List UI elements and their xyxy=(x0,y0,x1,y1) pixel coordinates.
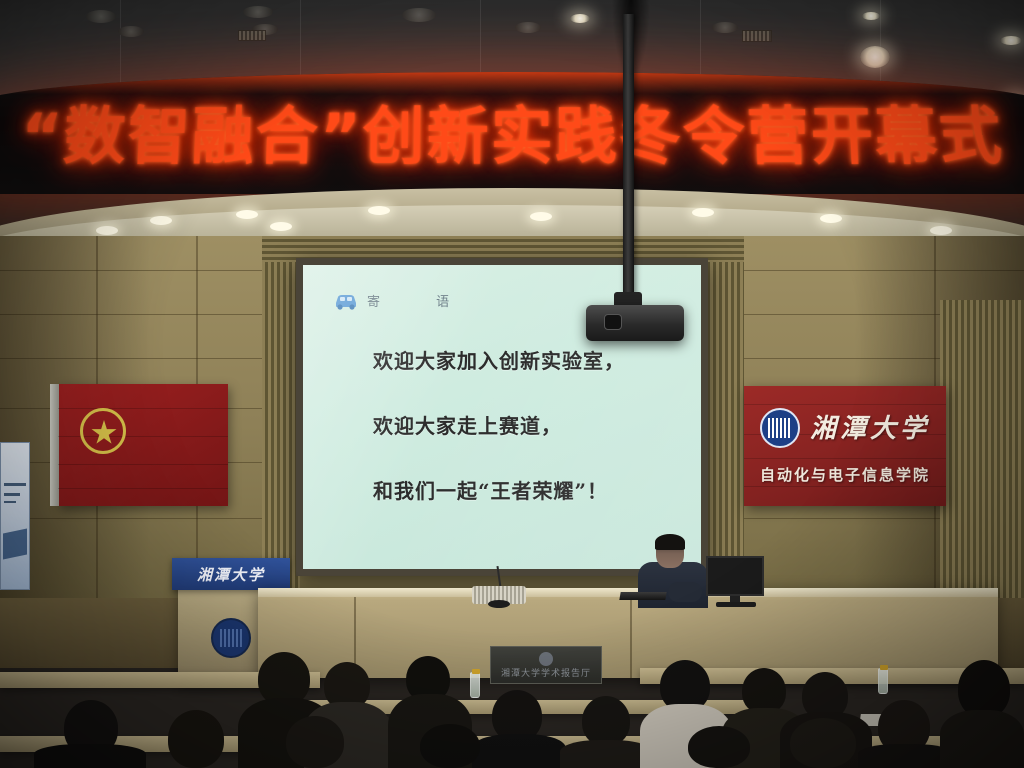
desk-monitor xyxy=(706,556,764,596)
audience-shoulders xyxy=(472,734,566,768)
projector-pole xyxy=(623,14,634,314)
ceiling-vent xyxy=(238,30,266,41)
youth-league-flag xyxy=(58,384,228,506)
ribbed-column-right xyxy=(704,236,744,596)
bottle-cap xyxy=(472,669,480,674)
speaker-hair xyxy=(655,534,685,550)
downlight xyxy=(820,214,842,223)
slide-line-2: 欢迎大家走上赛道， xyxy=(373,410,681,439)
downlight xyxy=(96,226,118,235)
star-icon xyxy=(91,420,117,446)
water-bottle xyxy=(878,668,888,694)
downlight xyxy=(530,212,552,221)
audience-head xyxy=(168,710,224,768)
university-logo xyxy=(760,408,800,448)
slide-header: 寄 语 xyxy=(333,291,475,310)
audience-shoulders xyxy=(560,740,652,768)
monitor-base xyxy=(716,602,756,607)
university-banner: 湘潭大学 自动化与电子信息学院 xyxy=(744,386,946,506)
hall-plaque: 湘潭大学学术报告厅 xyxy=(490,646,602,684)
projector-lens xyxy=(604,314,622,330)
ribbed-panel-far-right xyxy=(940,300,1024,600)
audience-shoulders xyxy=(940,710,1024,768)
podium-emblem xyxy=(211,618,251,658)
ceiling-light xyxy=(862,12,880,20)
downlight xyxy=(150,216,172,225)
microphone-base xyxy=(488,600,510,608)
speaker-arm xyxy=(668,582,702,602)
projector xyxy=(586,305,684,341)
flag-emblem xyxy=(80,408,126,454)
downlight xyxy=(692,208,714,217)
auditorium-scene: “数智融合”创新实践冬令营开幕式 xyxy=(0,0,1024,768)
ribbed-column-left xyxy=(262,236,300,596)
water-bottle xyxy=(470,672,480,698)
downlight xyxy=(236,210,258,219)
audience-shoulders xyxy=(34,744,146,768)
university-banner-name: 湘潭大学 xyxy=(810,408,930,445)
led-banner-text: “数智融合”创新实践冬令营开幕式 xyxy=(0,86,1024,176)
audience-head xyxy=(790,718,856,768)
university-logo-inner xyxy=(768,418,792,438)
poster-graphic xyxy=(3,528,27,559)
downlight xyxy=(368,206,390,215)
laptop xyxy=(619,592,666,600)
podium-nameplate: 湘潭大学 xyxy=(172,558,290,590)
audience-head xyxy=(582,696,630,746)
slide-body: 欢迎大家加入创新实验室， 欢迎大家走上赛道， 和我们一起“王者荣耀”！ xyxy=(373,345,681,540)
audience-head xyxy=(688,726,750,768)
car-icon xyxy=(333,292,359,310)
downlight xyxy=(270,222,292,231)
university-banner-college: 自动化与电子信息学院 xyxy=(744,464,946,485)
ceiling-vent xyxy=(742,30,772,42)
podium-emblem-inner xyxy=(220,629,242,647)
ceiling-light xyxy=(860,46,890,68)
ceiling-light xyxy=(570,14,590,23)
plaque-emblem xyxy=(539,652,553,666)
bottle-cap xyxy=(880,665,888,670)
ceiling-light xyxy=(1000,36,1022,45)
wall-poster xyxy=(0,442,30,590)
audience-head xyxy=(286,716,344,768)
downlight xyxy=(930,226,952,235)
slide-title: 寄 语 xyxy=(367,291,475,310)
slide-line-1: 欢迎大家加入创新实验室， xyxy=(373,345,681,374)
led-banner: “数智融合”创新实践冬令营开幕式 xyxy=(0,72,1024,194)
audience-head xyxy=(420,724,480,768)
hall-plaque-text: 湘潭大学学术报告厅 xyxy=(491,666,601,679)
slide-line-3: 和我们一起“王者荣耀”！ xyxy=(373,475,681,504)
podium-nameplate-text: 湘潭大学 xyxy=(197,564,265,585)
